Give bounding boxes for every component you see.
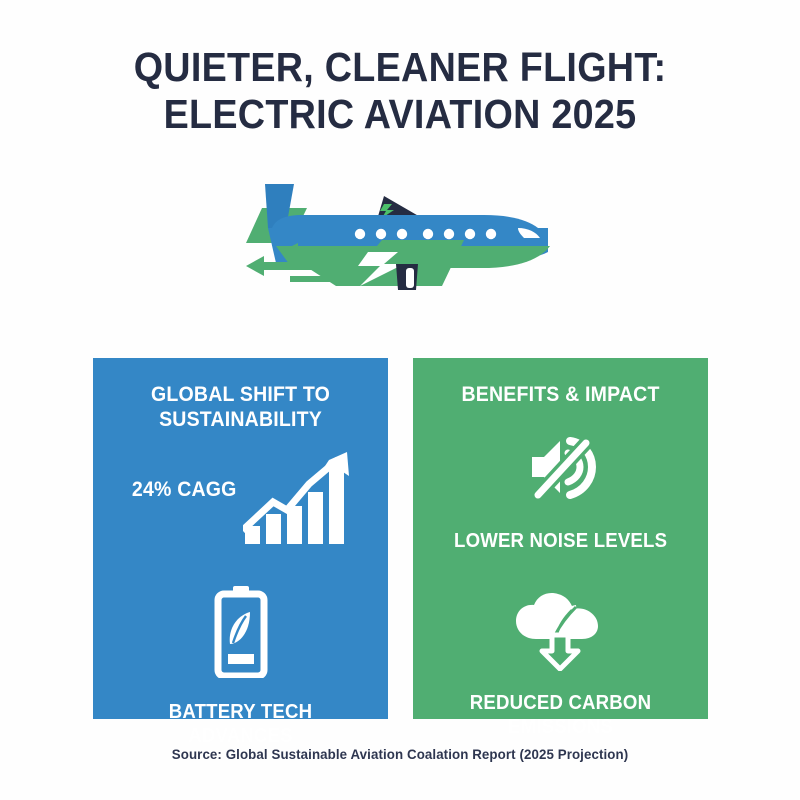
panel-global-shift[interactable]: GLOBAL SHIFT TO SUSTAINABILITY 24% CAGG bbox=[93, 358, 388, 719]
page-title: QUIETER, CLEANER FLIGHT: ELECTRIC AVIATI… bbox=[0, 44, 800, 138]
lower-noise-item: LOWER NOISE LEVELS bbox=[427, 433, 694, 553]
source-note: Source: Global Sustainable Aviation Coal… bbox=[20, 746, 780, 762]
panel-global-shift-heading: GLOBAL SHIFT TO SUSTAINABILITY bbox=[116, 382, 364, 432]
panel-benefits-impact-heading: BENEFITS & IMPACT bbox=[461, 382, 659, 407]
reduced-carbon-caption: REDUCED CARBON EMISSIONS bbox=[436, 691, 684, 739]
cagg-value: 24% CAGG bbox=[132, 478, 237, 502]
electric-airplane-illustration bbox=[232, 168, 572, 318]
battery-leaf-icon bbox=[212, 586, 270, 678]
cloud-leaf-down-arrow-icon bbox=[514, 591, 608, 671]
airplane-icon bbox=[232, 168, 572, 318]
growth-chart-icon bbox=[243, 452, 353, 544]
lower-noise-caption: LOWER NOISE LEVELS bbox=[454, 529, 667, 553]
battery-tech-caption: BATTERY TECH ADVANCES bbox=[116, 700, 364, 748]
panel-group: GLOBAL SHIFT TO SUSTAINABILITY 24% CAGG bbox=[93, 358, 708, 719]
muted-speaker-icon bbox=[526, 433, 596, 507]
panel-benefits-impact[interactable]: BENEFITS & IMPACT LOWER NOISE LEVELS bbox=[413, 358, 708, 719]
title-line-2: ELECTRIC AVIATION 2025 bbox=[32, 91, 768, 138]
infographic-canvas: QUIETER, CLEANER FLIGHT: ELECTRIC AVIATI… bbox=[0, 0, 800, 800]
battery-tech-item: BATTERY TECH ADVANCES bbox=[107, 586, 374, 748]
reduced-carbon-item: REDUCED CARBON EMISSIONS bbox=[427, 591, 694, 739]
title-line-1: QUIETER, CLEANER FLIGHT: bbox=[32, 44, 768, 91]
cagg-stat-row: 24% CAGG bbox=[107, 452, 374, 544]
